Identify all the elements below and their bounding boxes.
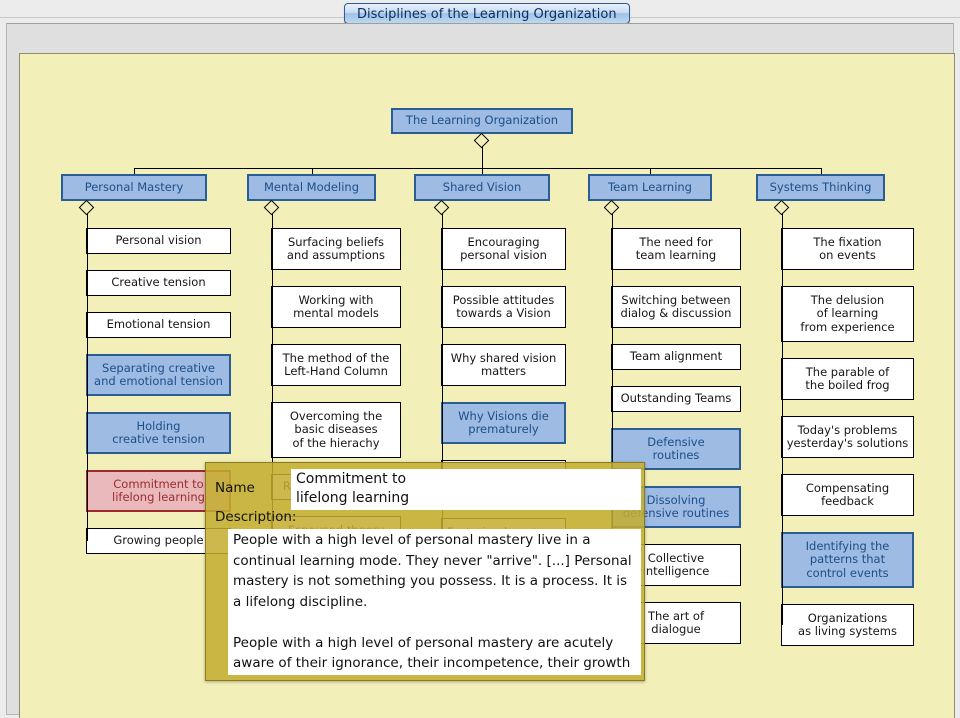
topic-node-c5-5[interactable]: Compensating feedback (781, 474, 914, 516)
discipline-diamond-5 (774, 200, 790, 216)
topic-node-c4-3[interactable]: Team alignment (611, 344, 741, 370)
spine-1 (87, 214, 88, 541)
topic-node-c5-1[interactable]: The fixation on events (781, 228, 914, 270)
topic-node-c5-7[interactable]: Organizations as living systems (781, 604, 914, 646)
name-field[interactable]: Commitment to lifelong learning (291, 469, 641, 510)
discipline-title-2[interactable]: Mental Modeling (247, 174, 376, 201)
topic-node-c5-6[interactable]: Identifying the patterns that control ev… (781, 532, 914, 588)
topic-node-c2-3[interactable]: The method of the Left-Hand Column (271, 344, 401, 386)
description-label: Description: (215, 509, 296, 525)
discipline-diamond-3 (434, 200, 450, 216)
topic-node-c1-3[interactable]: Emotional tension (86, 312, 231, 338)
discipline-title-3[interactable]: Shared Vision (414, 174, 550, 201)
discipline-diamond-4 (604, 200, 620, 216)
name-label: Name (215, 480, 255, 496)
topic-node-c3-2[interactable]: Possible attitudes towards a Vision (441, 286, 566, 328)
topic-node-c4-2[interactable]: Switching between dialog & discussion (611, 286, 741, 328)
topic-node-c5-2[interactable]: The delusion of learning from experience (781, 286, 914, 342)
topic-node-c1-4[interactable]: Separating creative and emotional tensio… (86, 354, 231, 396)
topic-node-c2-4[interactable]: Overcoming the basic diseases of the hie… (271, 402, 401, 458)
discipline-title-5[interactable]: Systems Thinking (756, 174, 885, 201)
document-tab[interactable]: Disciplines of the Learning Organization (344, 3, 630, 24)
topic-node-c1-1[interactable]: Personal vision (86, 228, 231, 254)
topic-node-c3-1[interactable]: Encouraging personal vision (441, 228, 566, 270)
detail-popup[interactable]: Name Commitment to lifelong learning Des… (205, 462, 645, 681)
topic-node-c3-3[interactable]: Why shared vision matters (441, 344, 566, 386)
discipline-title-4[interactable]: Team Learning (588, 174, 712, 201)
topic-node-c1-2[interactable]: Creative tension (86, 270, 231, 296)
topic-node-c5-3[interactable]: The parable of the boiled frog (781, 358, 914, 400)
topic-node-c1-5[interactable]: Holding creative tension (86, 412, 231, 454)
topic-node-c5-4[interactable]: Today's problems yesterday's solutions (781, 416, 914, 458)
root-aggregation-diamond (474, 133, 490, 149)
discipline-title-1[interactable]: Personal Mastery (61, 174, 207, 201)
bus-line (134, 168, 821, 169)
spine-5 (782, 214, 783, 625)
root-stem (482, 147, 483, 168)
topic-node-c4-1[interactable]: The need for team learning (611, 228, 741, 270)
node-root[interactable]: The Learning Organization (391, 108, 573, 134)
topic-node-c3-4[interactable]: Why Visions die prematurely (441, 402, 566, 444)
application-window: Disciplines of the Learning Organization… (0, 0, 960, 718)
discipline-diamond-2 (264, 200, 280, 216)
discipline-diamond-1 (79, 200, 95, 216)
description-field[interactable]: People with a high level of personal mas… (228, 529, 641, 675)
topic-node-c2-2[interactable]: Working with mental models (271, 286, 401, 328)
topic-node-c4-4[interactable]: Outstanding Teams (611, 386, 741, 412)
topic-node-c2-1[interactable]: Surfacing beliefs and assumptions (271, 228, 401, 270)
